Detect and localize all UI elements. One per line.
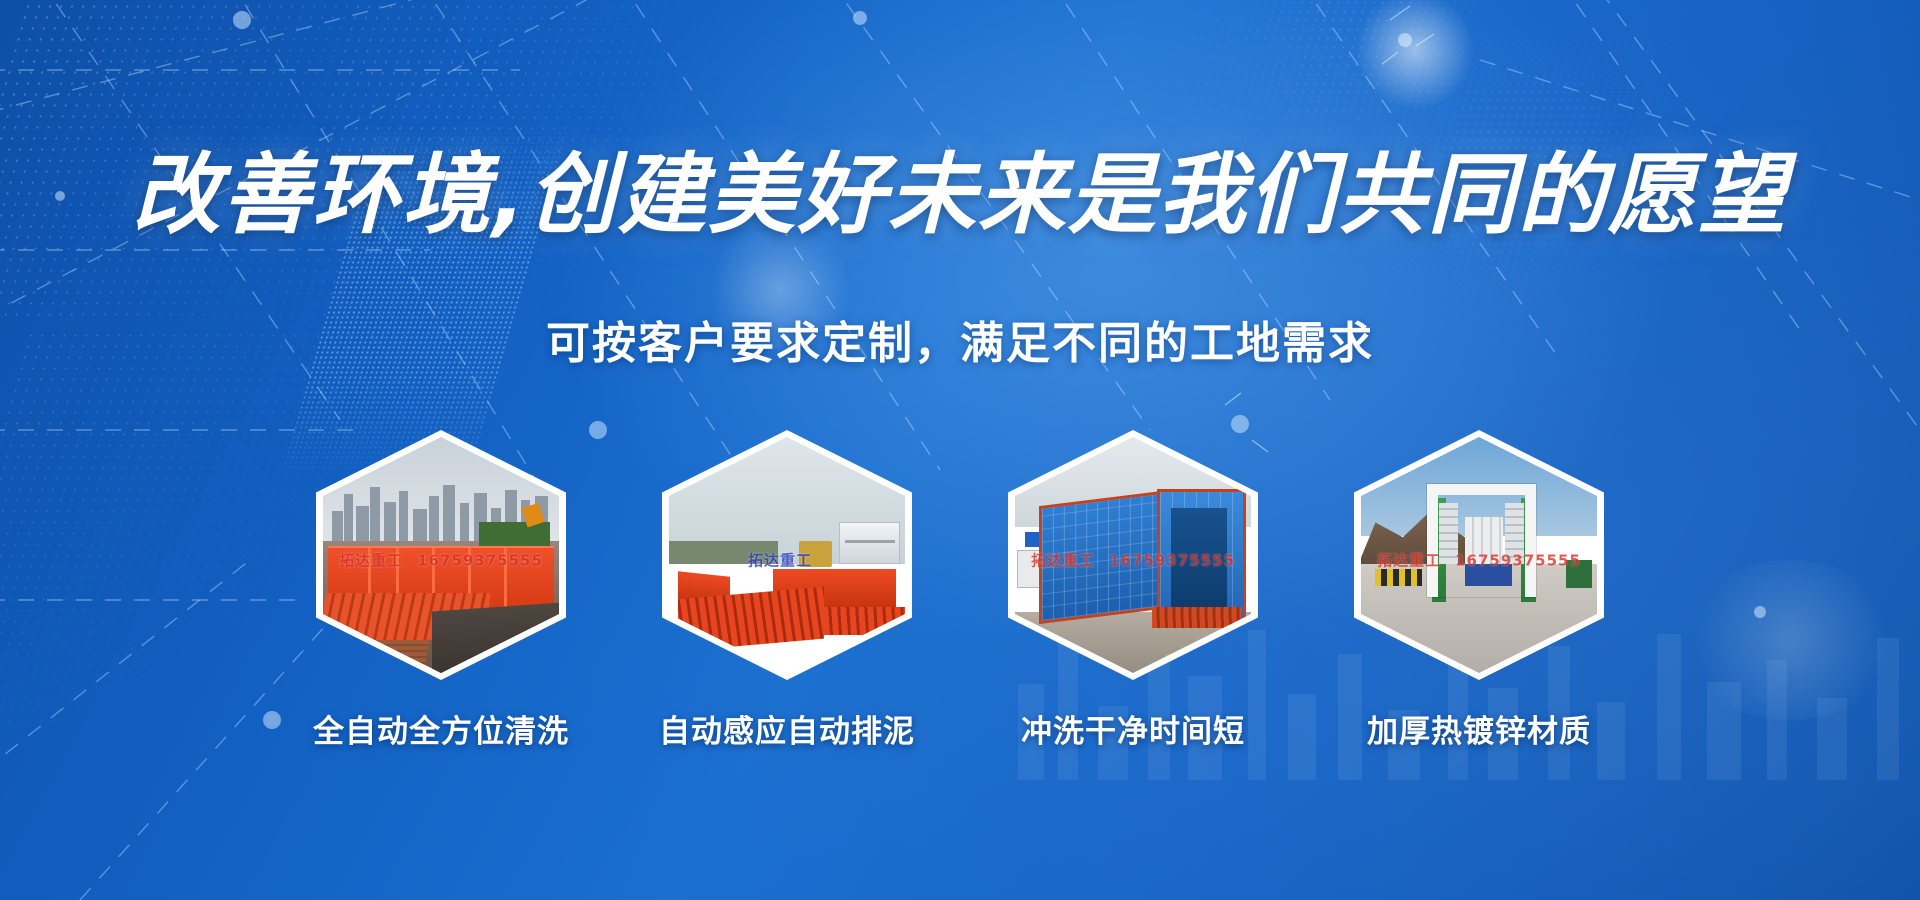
feature-item[interactable]: 拓达重工16759375555 加厚热镀锌材质 (1354, 430, 1604, 751)
hexagon-frame[interactable]: 拓达重工 (662, 430, 912, 680)
hexagon-image-clip: 拓达重工16759375555 (323, 437, 559, 673)
feature-caption: 全自动全方位清洗 (313, 706, 569, 751)
feature-item[interactable]: 拓达重工16759375555 冲洗干净时间短 (1008, 430, 1258, 751)
page-subtitle: 可按客户要求定制，满足不同的工地需求 (0, 318, 1920, 371)
feature-item[interactable]: 拓达重工 自动感应自动排泥 (662, 430, 912, 751)
feature-item[interactable]: 拓达重工16759375555 全自动全方位清洗 (316, 430, 566, 751)
hexagon-frame[interactable]: 拓达重工16759375555 (1354, 430, 1604, 680)
hexagon-frame[interactable]: 拓达重工16759375555 (1008, 430, 1258, 680)
feature-photo-3 (1015, 437, 1251, 673)
hexagon-image-clip: 拓达重工16759375555 (1361, 437, 1597, 673)
hexagon-frame[interactable]: 拓达重工16759375555 (316, 430, 566, 680)
feature-caption: 冲洗干净时间短 (1021, 706, 1245, 751)
feature-photo-4 (1361, 437, 1597, 673)
feature-caption: 加厚热镀锌材质 (1367, 706, 1591, 751)
feature-photo-2 (669, 437, 905, 673)
glow-spot (1355, 0, 1475, 110)
page-title: 改善环境,创建美好未来是我们共同的愿望 (0, 148, 1920, 241)
feature-list: 拓达重工16759375555 全自动全方位清洗 (0, 430, 1920, 751)
hexagon-image-clip: 拓达重工16759375555 (1015, 437, 1251, 673)
banner-stage: 改善环境,创建美好未来是我们共同的愿望 可按客户要求定制，满足不同的工地需求 (0, 0, 1920, 900)
feature-photo-1 (323, 437, 559, 673)
hexagon-image-clip: 拓达重工 (669, 437, 905, 673)
feature-caption: 自动感应自动排泥 (659, 706, 915, 751)
